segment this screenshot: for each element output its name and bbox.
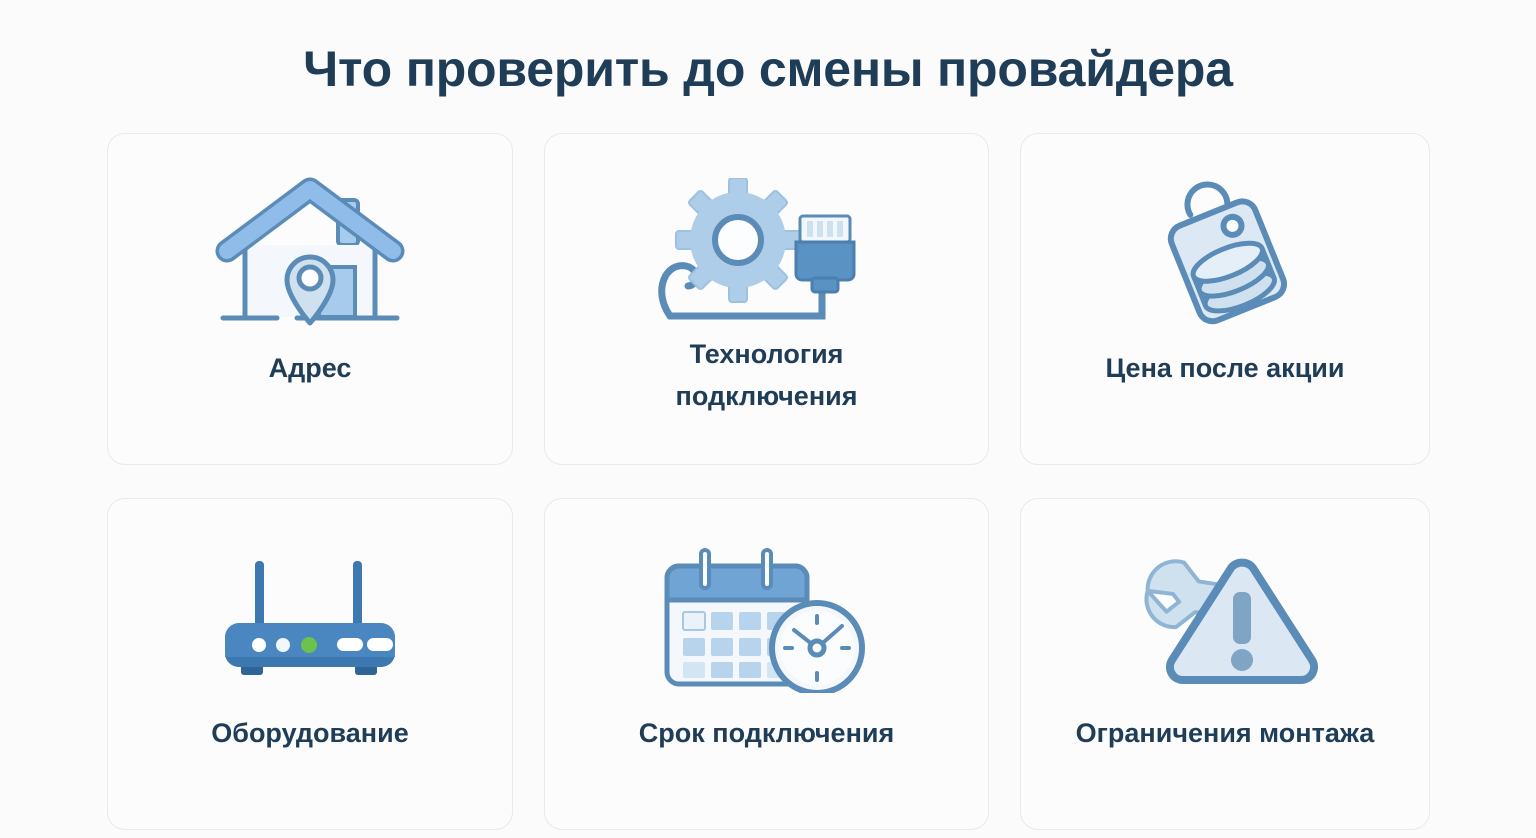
card-label-connection-deadline: Срок подключения xyxy=(559,713,974,755)
card-label-price-after-promo: Цена после акции xyxy=(1035,348,1415,390)
page-title: Что проверить до смены провайдера xyxy=(0,40,1536,98)
card-label-equipment: Оборудование xyxy=(122,713,498,755)
house-pin-icon xyxy=(108,170,512,340)
card-label-connection-technology: Технология подключения xyxy=(559,334,974,418)
calendar-clock-icon xyxy=(545,535,988,705)
card-label-address: Адрес xyxy=(122,348,498,390)
card-connection-deadline[interactable]: Срок подключения xyxy=(544,498,989,830)
wrench-warning-icon xyxy=(1021,535,1429,705)
gear-cable-icon xyxy=(545,170,988,340)
card-address[interactable]: Адрес xyxy=(107,133,513,465)
checklist-card-grid: Адрес xyxy=(107,133,1429,830)
card-price-after-promo[interactable]: Цена после акции xyxy=(1020,133,1430,465)
price-tag-coins-icon xyxy=(1021,170,1429,340)
card-equipment[interactable]: Оборудование xyxy=(107,498,513,830)
router-icon xyxy=(108,535,512,705)
card-installation-limits[interactable]: Ограничения монтажа xyxy=(1020,498,1430,830)
card-connection-technology[interactable]: Технология подключения xyxy=(544,133,989,465)
card-label-installation-limits: Ограничения монтажа xyxy=(1035,713,1415,755)
